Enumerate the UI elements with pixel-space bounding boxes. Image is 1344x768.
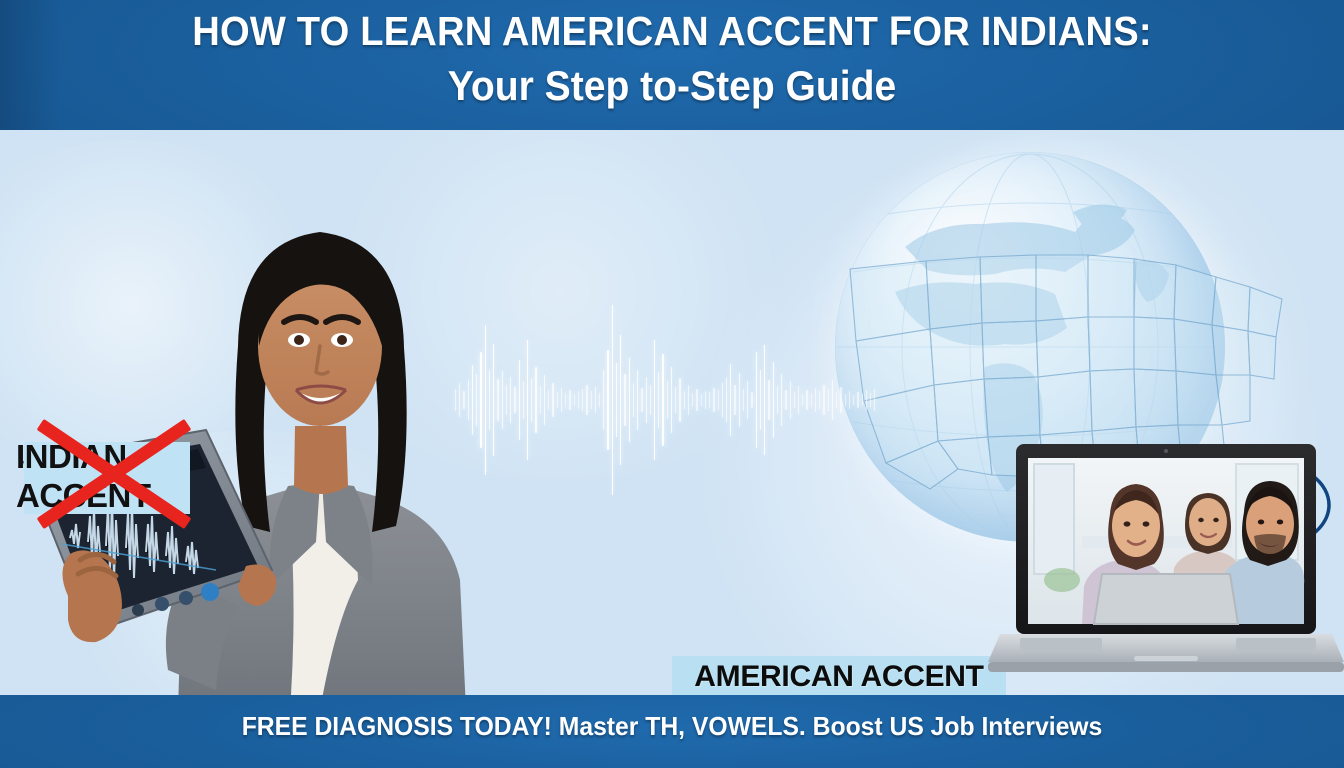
waveform-bar <box>832 380 833 420</box>
waveform-bar <box>616 363 617 437</box>
laptop-video-call[interactable] <box>986 440 1344 690</box>
waveform-bar <box>557 392 558 408</box>
waveform-bar <box>688 385 689 415</box>
waveform-bar <box>633 383 634 417</box>
waveform-bar <box>794 392 795 408</box>
waveform-bar <box>870 393 871 407</box>
waveform-bar <box>713 388 714 412</box>
waveform-bar <box>756 352 757 448</box>
promo-banner: HOW TO LEARN AMERICAN ACCENT FOR INDIANS… <box>0 0 1344 768</box>
waveform-bar <box>650 385 651 415</box>
waveform-bar <box>734 385 735 415</box>
waveform-bar <box>578 391 579 409</box>
footer-band: FREE DIAGNOSIS TODAY! Master TH, VOWELS.… <box>0 695 1344 768</box>
footer-cta-text: FREE DIAGNOSIS TODAY! Master TH, VOWELS.… <box>34 711 1311 742</box>
waveform-bar <box>607 350 608 450</box>
waveform-bar <box>705 391 706 409</box>
waveform-bar <box>819 391 820 409</box>
waveform-bar <box>620 335 621 465</box>
waveform-bar <box>586 385 587 415</box>
waveform-bar <box>751 392 752 408</box>
waveform-bar <box>866 390 867 410</box>
waveform-bar <box>552 383 553 417</box>
waveform-bar <box>773 362 774 438</box>
waveform-bar <box>790 381 791 419</box>
waveform-bar <box>853 395 854 405</box>
waveform-bar <box>747 381 748 419</box>
waveform-bar <box>582 389 583 411</box>
waveform-bar <box>662 354 663 446</box>
waveform-bar <box>646 377 647 423</box>
waveform-bar <box>544 375 545 425</box>
waveform-bar <box>802 394 803 406</box>
waveform-bar <box>696 389 697 411</box>
waveform-bar <box>641 388 642 412</box>
waveform-bar <box>637 370 638 430</box>
waveform-bar <box>764 345 765 455</box>
waveform-bar <box>675 387 676 413</box>
waveform-bar <box>722 383 723 417</box>
waveform-bar <box>781 374 782 426</box>
waveform-bar <box>777 386 778 414</box>
waveform-bar <box>667 381 668 419</box>
waveform-bar <box>624 374 625 426</box>
waveform-bar <box>684 391 685 409</box>
waveform-bar <box>658 372 659 428</box>
indian-accent-badge: INDIAN ACCENT <box>24 442 190 514</box>
banner-stage: INDIAN ACCENT AMERICAN ACCENT in 3 MONTH… <box>0 130 1344 695</box>
waveform-bar <box>569 390 570 410</box>
indian-accent-line2: ACCENT <box>16 476 216 515</box>
waveform-bar <box>679 378 680 422</box>
header-band: HOW TO LEARN AMERICAN ACCENT FOR INDIANS… <box>0 0 1344 130</box>
waveform-bar <box>671 367 672 433</box>
waveform-bar <box>811 393 812 407</box>
waveform-bar <box>840 387 841 413</box>
waveform-bar <box>629 358 630 442</box>
waveform-bar <box>862 394 863 406</box>
american-accent-line1: AMERICAN ACCENT <box>672 660 1006 694</box>
waveform-bar <box>709 392 710 408</box>
page-title-line2: Your Step to-Step Guide <box>47 62 1297 110</box>
waveform-bar <box>599 393 600 407</box>
waveform-bar <box>849 391 850 409</box>
waveform-bar <box>701 394 702 406</box>
waveform-bar <box>806 390 807 410</box>
waveform-bar <box>561 388 562 412</box>
waveform-bar <box>595 387 596 413</box>
waveform-bar <box>654 340 655 460</box>
waveform-bar <box>565 393 566 407</box>
waveform-bar <box>743 389 744 411</box>
waveform-bar <box>768 380 769 420</box>
waveform-bar <box>612 305 613 495</box>
waveform-bar <box>760 370 761 430</box>
waveform-bar <box>823 385 824 415</box>
waveform-bar <box>692 393 693 407</box>
waveform-bar <box>718 390 719 410</box>
waveform-bar <box>828 389 829 411</box>
waveform-bar <box>603 370 604 430</box>
american-accent-badge: AMERICAN ACCENT in 3 MONTHS! <box>672 656 1006 695</box>
waveform-bar <box>785 390 786 410</box>
waveform-bar <box>548 390 549 410</box>
waveform-bar <box>739 373 740 427</box>
waveform-bar <box>726 378 727 422</box>
waveform-bar <box>815 388 816 412</box>
page-title-line1: HOW TO LEARN AMERICAN ACCENT FOR INDIANS… <box>47 8 1297 55</box>
waveform-bar <box>836 392 837 408</box>
waveform-bar <box>845 394 846 406</box>
waveform-bar <box>574 394 575 406</box>
waveform-bar <box>798 386 799 414</box>
waveform-bar <box>730 364 731 436</box>
indian-accent-line1: INDIAN <box>16 437 216 476</box>
waveform-bar <box>857 392 858 408</box>
waveform-bar <box>591 391 592 409</box>
